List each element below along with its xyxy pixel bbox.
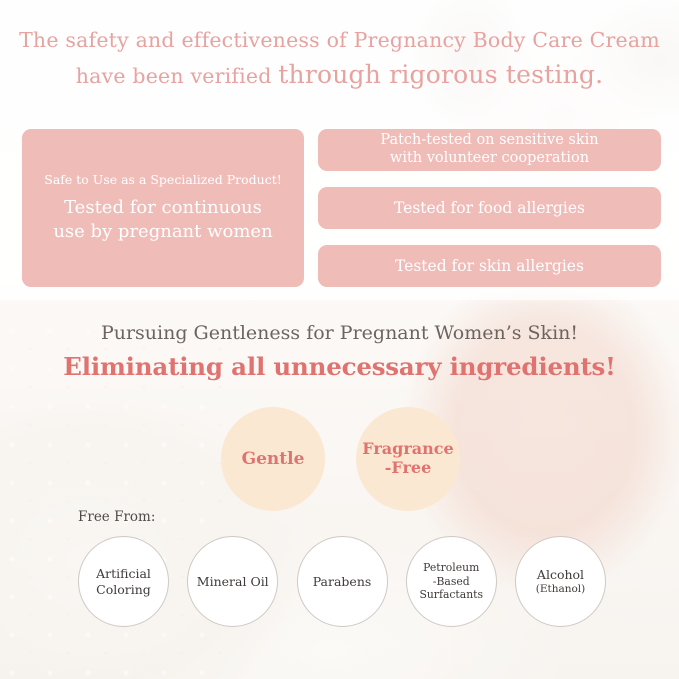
headline-line-2: have been verified through rigorous test… — [0, 57, 679, 93]
claim-bar-patch-test: Patch-tested on sensitive skin with volu… — [318, 129, 661, 171]
feature-circle-fragrance-free-line-1: Fragrance — [362, 440, 453, 459]
claim-bar-patch-test-line-1: Patch-tested on sensitive skin — [380, 132, 598, 150]
feature-circle-gentle-line-1: Gentle — [242, 449, 305, 469]
claims-section: Safe to Use as a Specialized Product! Te… — [22, 129, 661, 287]
infographic-page: The safety and effectiveness of Pregnanc… — [0, 0, 679, 679]
feature-circles: Gentle Fragrance -Free — [221, 407, 461, 511]
free-from-item-artificial-coloring-line-2: Coloring — [96, 582, 151, 598]
free-from-item-alcohol-line-1: Alcohol — [536, 567, 586, 583]
claim-card-main: Tested for continuous use by pregnant wo… — [53, 196, 272, 244]
free-from-item-parabens-line-1: Parabens — [313, 574, 372, 590]
headline-line-2-emphasis: through rigorous testing. — [278, 60, 603, 89]
free-from-item-petroleum-surfactants: Petroleum -Based Surfactants — [406, 536, 497, 627]
claim-card-specialized: Safe to Use as a Specialized Product! Te… — [22, 129, 304, 287]
headline-line-2-small: have been verified — [76, 64, 272, 88]
free-from-item-artificial-coloring: Artificial Coloring — [78, 536, 169, 627]
free-from-item-petroleum-surfactants-line-1: Petroleum — [419, 561, 483, 574]
free-from-item-parabens: Parabens — [297, 536, 388, 627]
free-from-item-petroleum-surfactants-line-3: Surfactants — [419, 588, 483, 601]
free-from-item-artificial-coloring-line-1: Artificial — [96, 566, 151, 582]
free-from-item-alcohol: Alcohol (Ethanol) — [515, 536, 606, 627]
free-from-label: Free From: — [78, 509, 155, 525]
claim-bars: Patch-tested on sensitive skin with volu… — [318, 129, 661, 287]
feature-circle-fragrance-free-line-2: -Free — [362, 459, 453, 478]
feature-circle-fragrance-free: Fragrance -Free — [356, 407, 460, 511]
free-from-item-mineral-oil: Mineral Oil — [187, 536, 278, 627]
claim-bar-food-allergies: Tested for food allergies — [318, 187, 661, 229]
claim-bar-skin-allergies: Tested for skin allergies — [318, 245, 661, 287]
middle-heading-1: Pursuing Gentleness for Pregnant Women’s… — [0, 322, 679, 344]
claim-bar-patch-test-line-2: with volunteer cooperation — [380, 150, 598, 168]
free-from-list: Artificial Coloring Mineral Oil Parabens… — [78, 536, 606, 628]
claim-card-main-line-1: Tested for continuous — [53, 196, 272, 220]
free-from-item-petroleum-surfactants-line-2: -Based — [419, 575, 483, 588]
headline-line-1: The safety and effectiveness of Pregnanc… — [0, 26, 679, 55]
claim-card-main-line-2: use by pregnant women — [53, 220, 272, 244]
free-from-item-mineral-oil-line-1: Mineral Oil — [197, 574, 269, 590]
middle-heading-2: Eliminating all unnecessary ingredients! — [0, 352, 679, 381]
headline: The safety and effectiveness of Pregnanc… — [0, 26, 679, 93]
feature-circle-gentle: Gentle — [221, 407, 325, 511]
claim-card-subtitle: Safe to Use as a Specialized Product! — [44, 172, 282, 187]
free-from-item-alcohol-line-2: (Ethanol) — [536, 583, 586, 596]
